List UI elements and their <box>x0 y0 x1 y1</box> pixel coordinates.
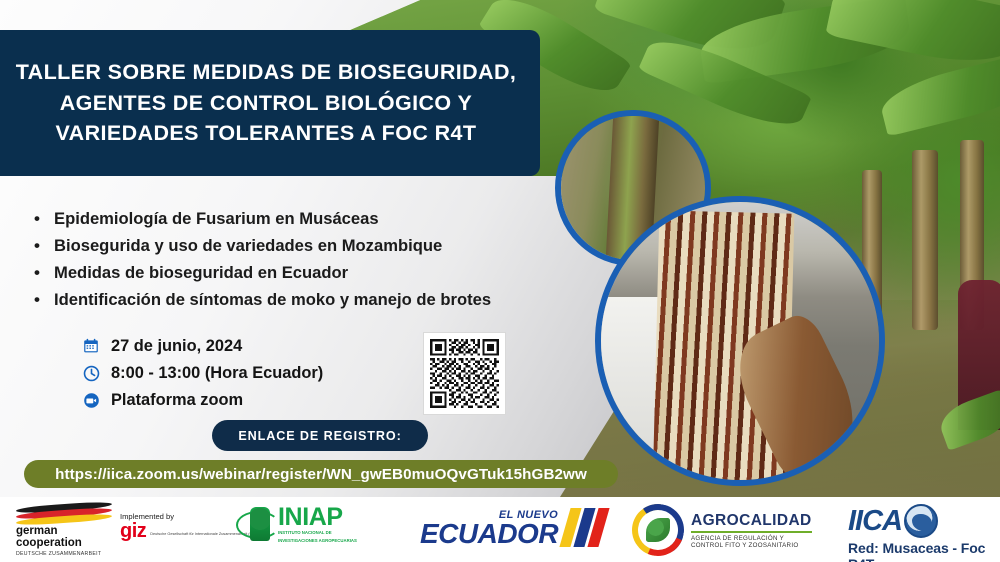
ecuador-flag-bars-icon <box>559 508 612 547</box>
registration-qr-code[interactable] <box>424 333 505 414</box>
giz-wordmark: giz <box>120 523 146 539</box>
list-item: Biosegurida y uso de variedades en Mozam… <box>32 233 602 260</box>
event-date-row: 27 de junio, 2024 <box>80 334 323 358</box>
poster-canvas: TALLER SOBRE MEDIDAS DE BIOSEGURIDAD, AG… <box>0 0 1000 562</box>
title-line-2: AGENTES DE CONTROL BIOLÓGICO Y <box>16 88 517 119</box>
title-banner: TALLER SOBRE MEDIDAS DE BIOSEGURIDAD, AG… <box>0 30 540 176</box>
event-time-row: 8:00 - 13:00 (Hora Ecuador) <box>80 361 323 385</box>
calendar-icon <box>80 337 102 356</box>
title-line-3: VARIEDADES TOLERANTES A FOC R4T <box>16 118 517 149</box>
iica-wordmark: IICA <box>848 508 902 534</box>
iniap-subtitle-2: INVESTIGACIONES AGROPECUARIAS <box>278 538 357 543</box>
iniap-logo: INIAP INSTITUTO NACIONAL DE INVESTIGACIO… <box>236 505 357 545</box>
event-platform: Plataforma zoom <box>111 391 243 410</box>
title-line-1: TALLER SOBRE MEDIDAS DE BIOSEGURIDAD, <box>16 57 517 88</box>
iica-logo: IICA Red: Musaceas - Foc R4T <box>848 504 1000 562</box>
banana-trunk <box>912 150 938 330</box>
clock-icon <box>80 364 102 383</box>
event-time: 8:00 - 13:00 (Hora Ecuador) <box>111 364 323 383</box>
list-item: Medidas de bioseguridad en Ecuador <box>32 260 602 287</box>
iica-globe-icon <box>904 504 938 538</box>
iniap-subtitle-1: INSTITUTO NACIONAL DE <box>278 530 357 535</box>
topics-list: Epidemiología de Fusarium en Musáceas Bi… <box>32 206 602 314</box>
ecuador-wordmark: ECUADOR <box>420 521 558 546</box>
agrocalidad-subtitle-1: AGENCIA DE REGULACIÓN Y <box>691 535 812 542</box>
german-logo-line3: DEUTSCHE ZUSAMMENARBEIT <box>16 551 112 557</box>
german-flag-wave-icon <box>16 503 112 525</box>
zoom-video-icon <box>80 391 102 410</box>
event-date: 27 de junio, 2024 <box>111 337 242 356</box>
agrocalidad-emblem-icon <box>632 504 684 556</box>
iniap-wordmark: INIAP <box>278 507 357 528</box>
event-details: 27 de junio, 2024 8:00 - 13:00 (Hora Ecu… <box>80 334 323 415</box>
iniap-emblem-icon <box>236 505 280 545</box>
german-logo-line2: cooperation <box>16 537 112 549</box>
list-item: Epidemiología de Fusarium en Musáceas <box>32 206 602 233</box>
page-title: TALLER SOBRE MEDIDAS DE BIOSEGURIDAD, AG… <box>16 57 517 149</box>
registro-button[interactable]: ENLACE DE REGISTRO: <box>212 420 428 451</box>
banana-leaf <box>825 0 1000 74</box>
iica-network-label: Red: Musaceas - Foc R4T <box>848 540 1000 562</box>
german-cooperation-logo: german cooperation DEUTSCHE ZUSAMMENARBE… <box>16 503 116 557</box>
banana-leaf <box>877 51 1000 136</box>
agrocalidad-subtitle-2: CONTROL FITO Y ZOOSANITARIO <box>691 542 812 549</box>
circle-image-big <box>601 202 879 480</box>
agrocalidad-wordmark: AGROCALIDAD <box>691 512 812 533</box>
list-item: Identificación de síntomas de moko y man… <box>32 287 602 314</box>
photo-circle-corm-symptoms <box>595 196 885 486</box>
ecuador-logo: EL NUEVO ECUADOR <box>420 508 607 547</box>
registration-url-link[interactable]: https://iica.zoom.us/webinar/register/WN… <box>24 460 618 488</box>
agrocalidad-logo: AGROCALIDAD AGENCIA DE REGULACIÓN Y CONT… <box>632 504 812 556</box>
german-logo-line1: german <box>16 525 112 537</box>
event-platform-row: Plataforma zoom <box>80 388 323 412</box>
